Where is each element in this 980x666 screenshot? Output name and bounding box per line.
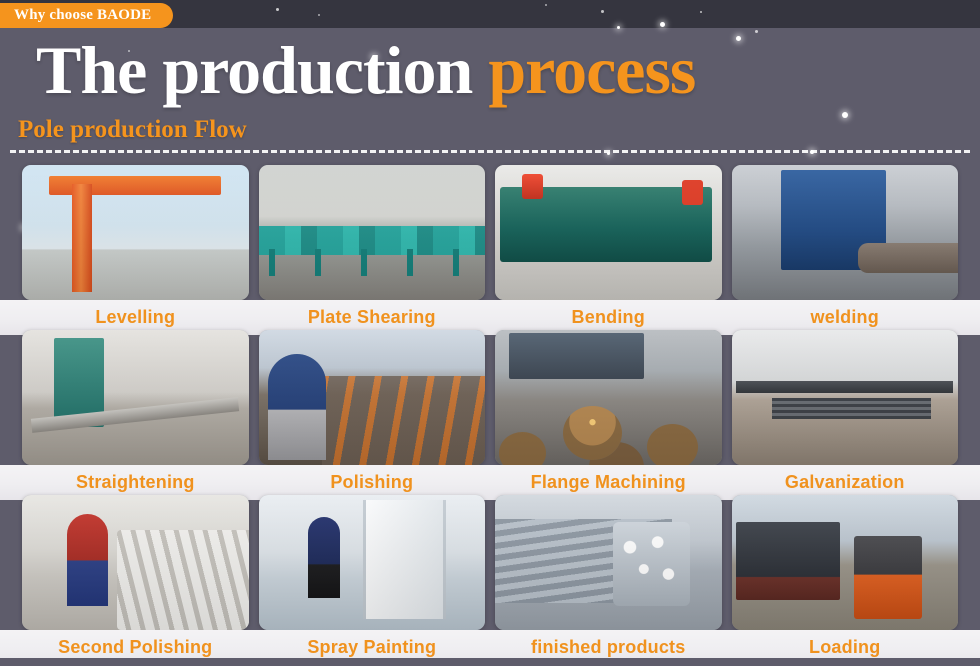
- process-caption: Straightening: [22, 472, 249, 493]
- process-caption: Second Polishing: [22, 637, 249, 658]
- process-card[interactable]: [259, 330, 486, 465]
- process-caption: Loading: [732, 637, 959, 658]
- sparkle-dot: [842, 112, 848, 118]
- process-card[interactable]: [22, 165, 249, 300]
- page-title: The production process: [36, 34, 695, 106]
- process-caption: Bending: [495, 307, 722, 328]
- process-row: Straightening Polishing Flange Machining…: [0, 330, 980, 500]
- dashed-divider: [10, 150, 970, 153]
- process-photo-green-straightening-press: [22, 330, 249, 465]
- process-caption: Flange Machining: [495, 472, 722, 493]
- process-card[interactable]: [495, 495, 722, 630]
- process-caption: Spray Painting: [259, 637, 486, 658]
- process-card[interactable]: [495, 165, 722, 300]
- process-card-group: [0, 495, 980, 630]
- process-caption: Levelling: [22, 307, 249, 328]
- page-subtitle: Pole production Flow: [18, 116, 247, 144]
- process-card[interactable]: [22, 330, 249, 465]
- process-card[interactable]: [732, 165, 959, 300]
- process-caption: welding: [732, 307, 959, 328]
- process-photo-green-press-brake-machine: [495, 165, 722, 300]
- process-photo-galvanizing-plant-racks: [732, 330, 959, 465]
- process-photo-forklift-loading-truck-container: [732, 495, 959, 630]
- sparkle-dot: [736, 36, 741, 41]
- process-photo-teal-shearing-machine-line: [259, 165, 486, 300]
- production-process-poster: Why choose BAODE The production process …: [0, 0, 980, 666]
- process-caption: Polishing: [259, 472, 486, 493]
- process-card[interactable]: [259, 165, 486, 300]
- process-row: Second Polishing Spray Painting finished…: [0, 495, 980, 665]
- process-card[interactable]: [732, 330, 959, 465]
- process-photo-paint-spray-booth-worker: [259, 495, 486, 630]
- process-photo-blue-welding-rig-steel-pole: [732, 165, 959, 300]
- process-photo-workers-polishing-white-poles: [22, 495, 249, 630]
- process-card[interactable]: [259, 495, 486, 630]
- process-photo-gantry-crane-outdoor-yard: [22, 165, 249, 300]
- process-caption: finished products: [495, 637, 722, 658]
- title-white-part: The production: [36, 32, 472, 108]
- process-card-group: [0, 165, 980, 300]
- title-orange-part: process: [488, 32, 695, 108]
- process-row: Levelling Plate Shearing Bending welding: [0, 165, 980, 335]
- process-caption: Galvanization: [732, 472, 959, 493]
- process-photo-stacked-finished-poles: [495, 495, 722, 630]
- bottom-strip: [0, 658, 980, 666]
- sparkle-dot: [755, 30, 758, 33]
- process-card[interactable]: [495, 330, 722, 465]
- process-photo-workers-polishing-steel: [259, 330, 486, 465]
- process-photo-flame-cutting-flange-discs: [495, 330, 722, 465]
- badge-label: Why choose BAODE: [14, 7, 151, 24]
- why-choose-badge: Why choose BAODE: [0, 3, 173, 28]
- process-card[interactable]: [732, 495, 959, 630]
- process-caption: Plate Shearing: [259, 307, 486, 328]
- process-card-group: [0, 330, 980, 465]
- process-card[interactable]: [22, 495, 249, 630]
